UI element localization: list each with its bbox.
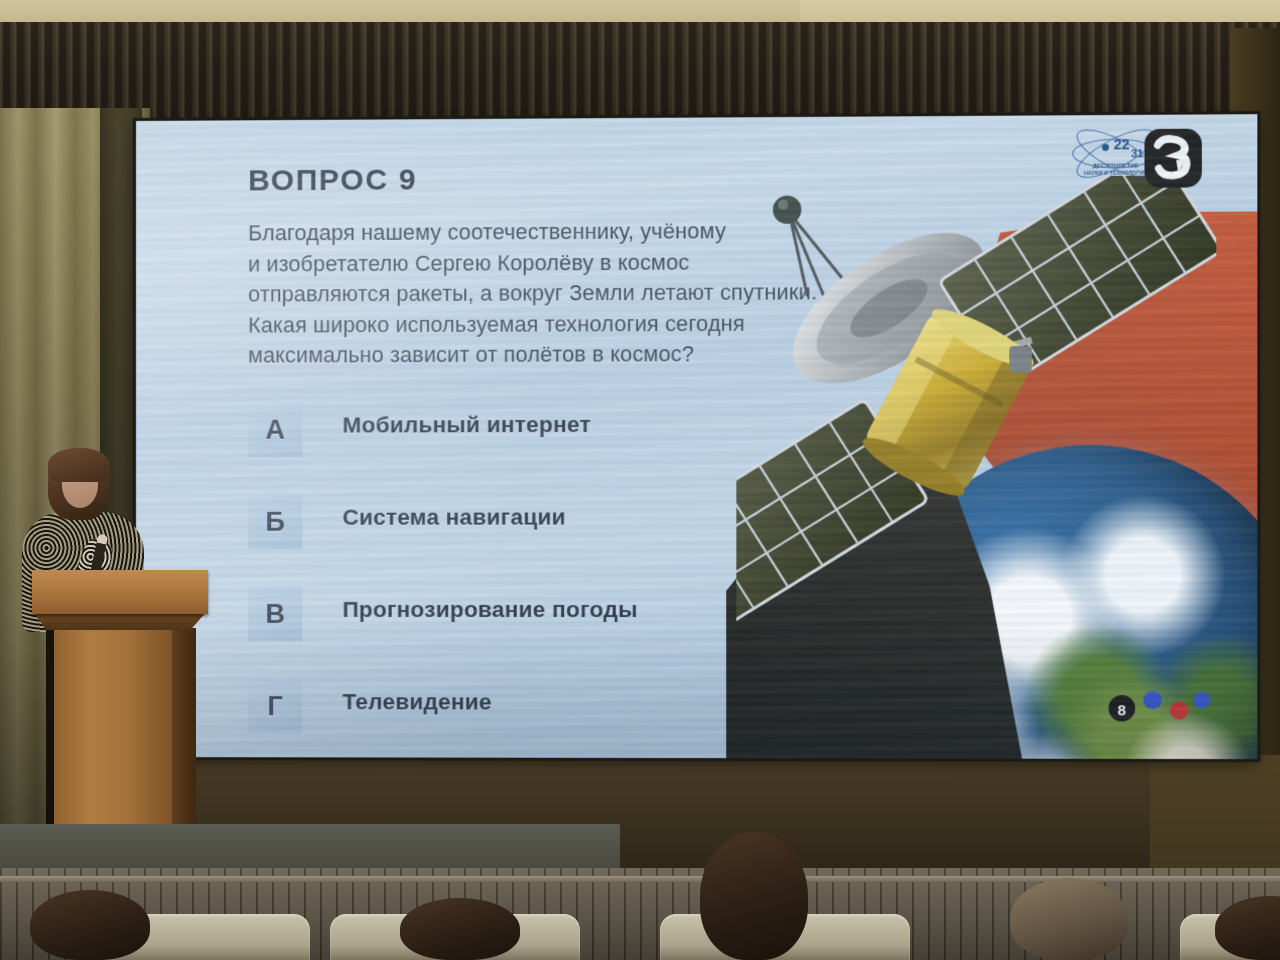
audience-row [0, 830, 1280, 960]
curtain-pleats [0, 22, 1280, 130]
page-title: ВОПРОС 9 [248, 163, 417, 198]
projection-screen: 8 ВОПРОС 9 Благодаря нашему соотечествен… [136, 114, 1257, 759]
auditorium-scene: 8 ВОПРОС 9 Благодаря нашему соотечествен… [0, 0, 1280, 960]
decade-logo-line-1: ДЕСЯТИЛЕТИЕ [1093, 163, 1139, 169]
question-line-1: Благодаря нашему соотечественнику, учёно… [248, 215, 915, 249]
question-line-2: и изобретателю Сергею Королёву в космос [248, 246, 915, 280]
answer-label-a: Мобильный интернет [342, 412, 590, 439]
answer-options-list: А Мобильный интернет Б Система навигации… [248, 391, 895, 759]
answer-option-b[interactable]: Б Система навигации [248, 484, 895, 577]
question-text: Благодаря нашему соотечественнику, учёно… [248, 215, 915, 371]
answer-letter-badge-g: Г [248, 679, 302, 733]
answer-label-v: Прогнозирование погоды [342, 597, 637, 623]
question-line-3: отправляются ракеты, а вокруг Земли лета… [248, 277, 915, 310]
answer-letter-badge-b: Б [248, 495, 302, 549]
audience-head-3 [700, 832, 808, 960]
answer-letter-badge-v: В [248, 587, 302, 641]
znanie-logo-icon [1142, 127, 1204, 190]
lectern-top-surface [32, 570, 208, 614]
answer-option-a[interactable]: А Мобильный интернет [248, 391, 895, 485]
presenter-hair-front [48, 448, 110, 482]
answer-label-g: Телевидение [342, 689, 491, 715]
decade-years-primary: 22 [1114, 136, 1130, 152]
answer-option-g[interactable]: Г Телевидение [248, 669, 895, 759]
audience-head-4 [1010, 878, 1128, 960]
question-line-5: максимально зависит от полётов в космос? [248, 338, 915, 371]
audience-head-2 [400, 898, 520, 960]
answer-label-b: Система навигации [342, 504, 565, 530]
stage-curtain-valance [0, 22, 1280, 130]
question-line-4: Какая широко используемая технология сег… [248, 308, 915, 341]
answer-letter-badge-a: А [248, 403, 302, 457]
slide-content: ВОПРОС 9 Благодаря нашему соотечественни… [136, 114, 1257, 759]
answer-option-v[interactable]: В Прогнозирование погоды [248, 577, 895, 670]
audience-head-1 [30, 890, 150, 960]
